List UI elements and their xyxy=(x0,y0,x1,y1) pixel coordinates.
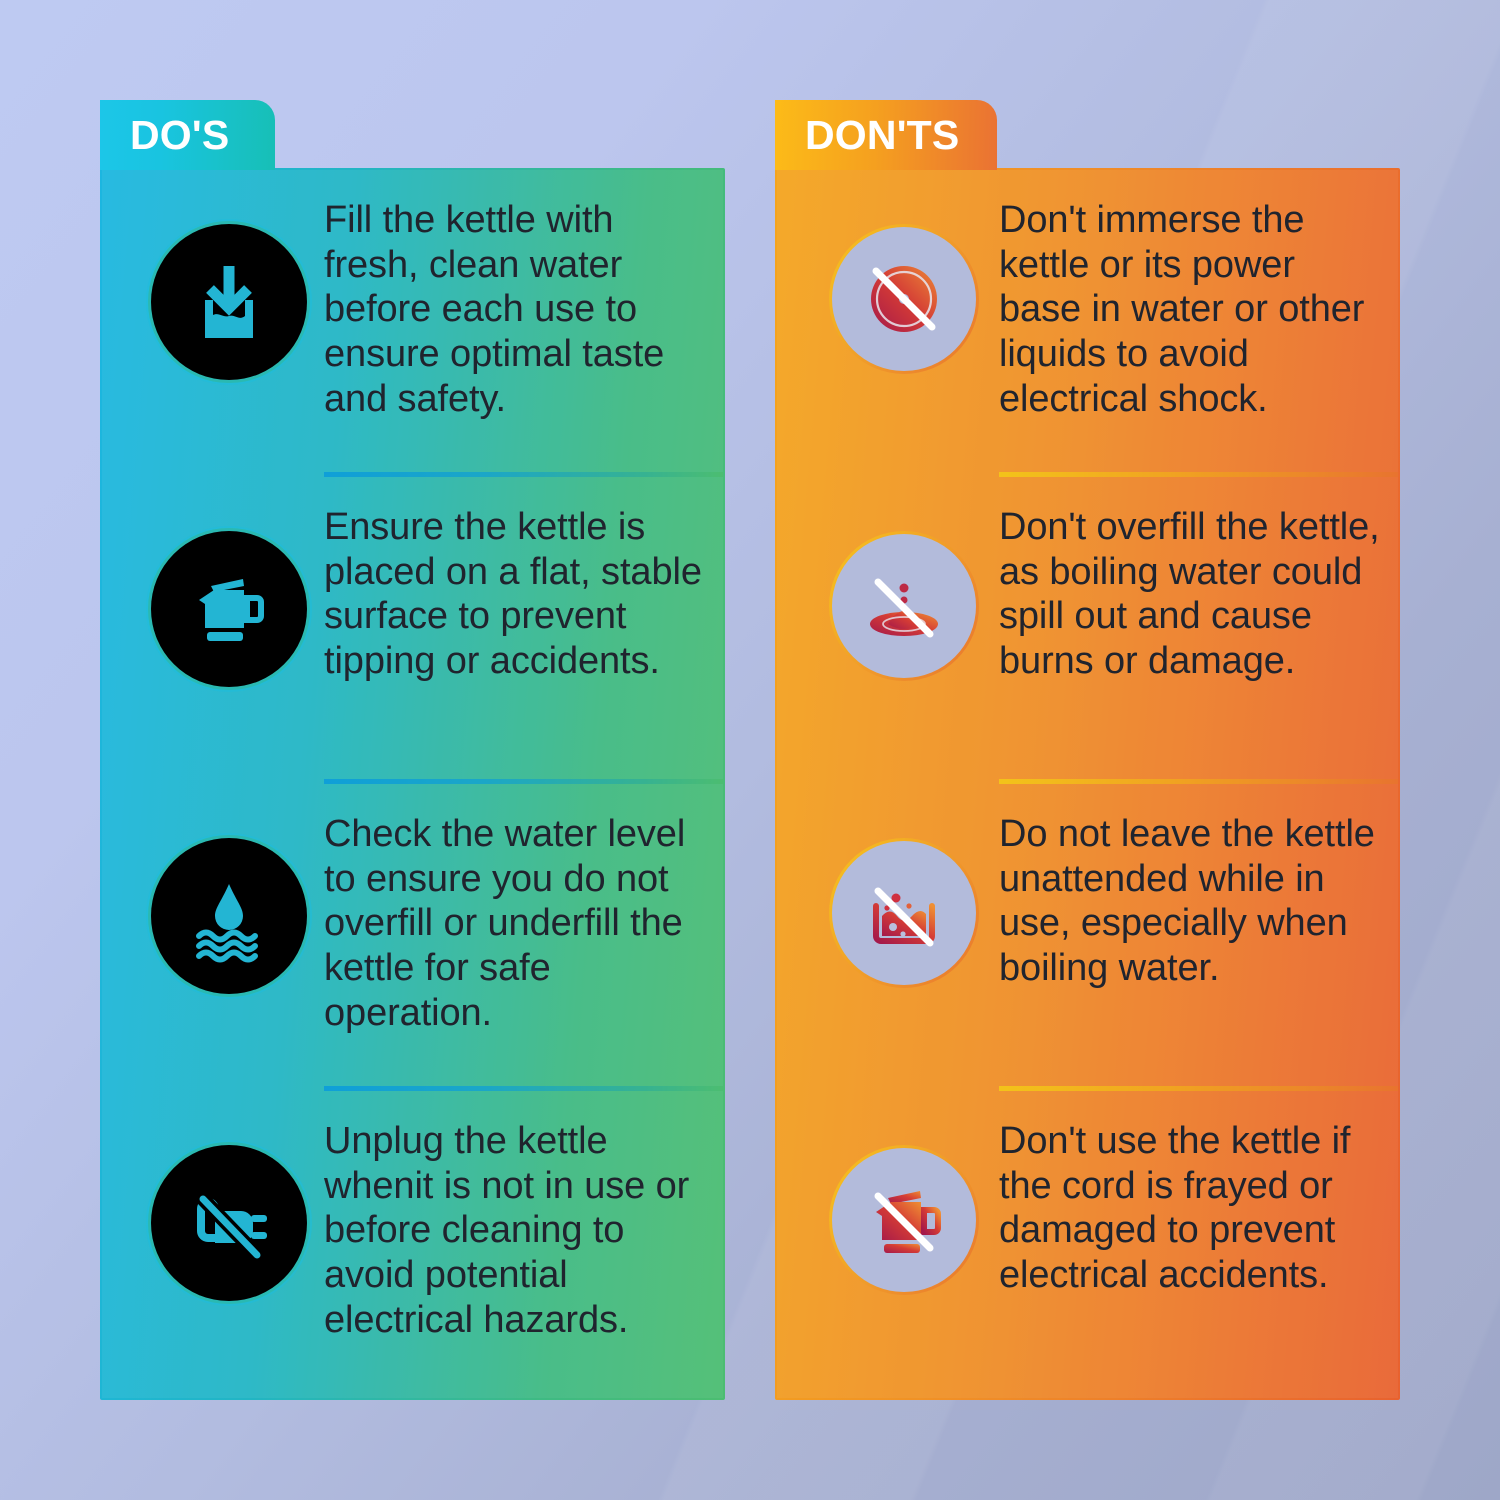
dos-card: Fill the kettle with fresh, clean water … xyxy=(100,168,725,1400)
dos-item-text: Unplug the kettle whenit is not in use o… xyxy=(324,1115,709,1342)
dos-icon-cell xyxy=(134,808,324,994)
infographic-canvas: DO'S Fill the kettle wit xyxy=(0,0,1500,1500)
donts-tab-label: DON'TS xyxy=(805,115,959,156)
donts-item-text: Do not leave the kettle unattended while… xyxy=(999,808,1384,991)
donts-icon-cell xyxy=(809,501,999,681)
dos-list-item: Ensure the kettle is placed on a flat, s… xyxy=(102,477,723,784)
dos-icon-cell xyxy=(134,194,324,380)
dos-card-inner: Fill the kettle with fresh, clean water … xyxy=(102,170,723,1398)
fill-water-container-icon xyxy=(151,224,307,380)
dos-item-text: Check the water level to ensure you do n… xyxy=(324,808,709,1035)
kettle-icon xyxy=(151,531,307,687)
dos-tab: DO'S xyxy=(100,100,275,170)
dos-list-item: Fill the kettle with fresh, clean water … xyxy=(102,170,723,477)
dos-item-text: Ensure the kettle is placed on a flat, s… xyxy=(324,501,709,684)
donts-icon-cell xyxy=(809,808,999,988)
unplug-icon xyxy=(151,1145,307,1301)
no-immerse-power-base-icon xyxy=(829,224,979,374)
dos-list-item: Check the water level to ensure you do n… xyxy=(102,784,723,1091)
no-unattended-boiling-icon xyxy=(829,838,979,988)
donts-card-inner: Don't immerse the kettle or its power ba… xyxy=(777,170,1398,1398)
donts-tab: DON'TS xyxy=(775,100,997,170)
no-damaged-cord-kettle-icon xyxy=(829,1145,979,1295)
dos-tab-label: DO'S xyxy=(130,115,229,156)
donts-item-text: Don't use the kettle if the cord is fray… xyxy=(999,1115,1384,1298)
water-droplet-level-icon xyxy=(151,838,307,994)
dos-icon-cell xyxy=(134,1115,324,1301)
donts-list-item: Don't overfill the kettle, as boiling wa… xyxy=(777,477,1398,784)
donts-item-text: Don't immerse the kettle or its power ba… xyxy=(999,194,1384,421)
donts-column: DON'TS xyxy=(775,100,1400,1400)
no-overfill-splash-icon xyxy=(829,531,979,681)
donts-list-item: Do not leave the kettle unattended while… xyxy=(777,784,1398,1091)
dos-item-text: Fill the kettle with fresh, clean water … xyxy=(324,194,709,421)
donts-card: Don't immerse the kettle or its power ba… xyxy=(775,168,1400,1400)
donts-item-text: Don't overfill the kettle, as boiling wa… xyxy=(999,501,1384,684)
dos-list-item: Unplug the kettle whenit is not in use o… xyxy=(102,1091,723,1398)
donts-icon-cell xyxy=(809,194,999,374)
donts-list-item: Don't immerse the kettle or its power ba… xyxy=(777,170,1398,477)
dos-column: DO'S Fill the kettle wit xyxy=(100,100,725,1400)
donts-list-item: Don't use the kettle if the cord is fray… xyxy=(777,1091,1398,1398)
donts-icon-cell xyxy=(809,1115,999,1295)
dos-icon-cell xyxy=(134,501,324,687)
